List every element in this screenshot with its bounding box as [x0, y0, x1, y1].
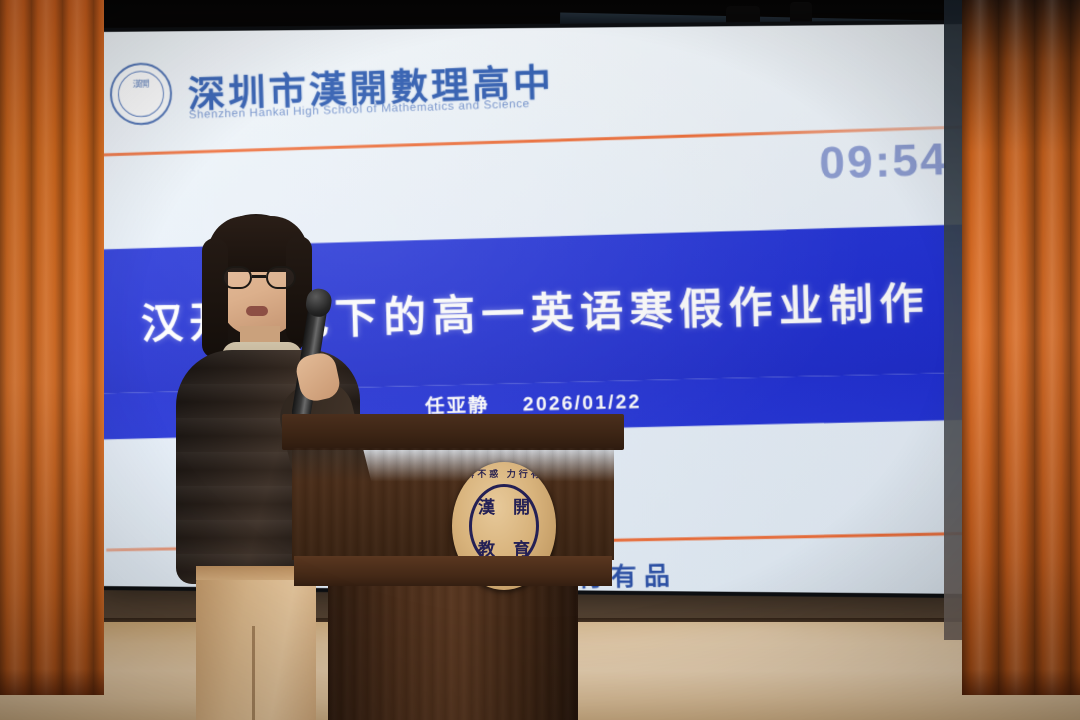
mouth — [246, 306, 268, 316]
emblem-char-2: 開 — [513, 493, 530, 518]
stage-curtain-left — [0, 0, 104, 695]
lens-left — [222, 266, 252, 289]
school-seal-label: 漢開 — [128, 80, 155, 109]
lectern: 明辨不惑 力行有品 漢 開 教 育 Hankai Education — [282, 414, 624, 720]
curtain-hem — [0, 669, 104, 695]
wood-grain — [328, 584, 578, 720]
presentation-date: 2026/01/22 — [523, 392, 642, 416]
curtain-hem — [962, 669, 1080, 695]
glasses-bridge — [252, 275, 266, 278]
emblem-char-1: 漢 — [478, 493, 495, 518]
emblem-outer-text: 明辨不惑 力行有品 — [452, 467, 556, 480]
stage-scene: 漢開 深圳市漢開數理高中 Shenzhen Hankai High School… — [0, 0, 1080, 720]
school-seal-icon: 漢開 — [109, 62, 173, 126]
lens-right — [266, 266, 296, 289]
trouser-seam — [252, 626, 255, 720]
slide-clock: 09:54 — [819, 134, 949, 189]
eyeglasses-icon — [220, 266, 300, 290]
lectern-front-panel: 明辨不惑 力行有品 漢 開 教 育 Hankai Education — [292, 448, 614, 560]
lectern-column — [328, 584, 578, 720]
stage-curtain-right — [962, 0, 1080, 695]
school-name-block: 深圳市漢開數理高中 Shenzhen Hankai High School of… — [187, 51, 554, 121]
hair-left — [202, 238, 228, 358]
lectern-top — [282, 414, 624, 450]
microphone-head — [304, 287, 333, 319]
lectern-base-lip — [294, 556, 612, 586]
